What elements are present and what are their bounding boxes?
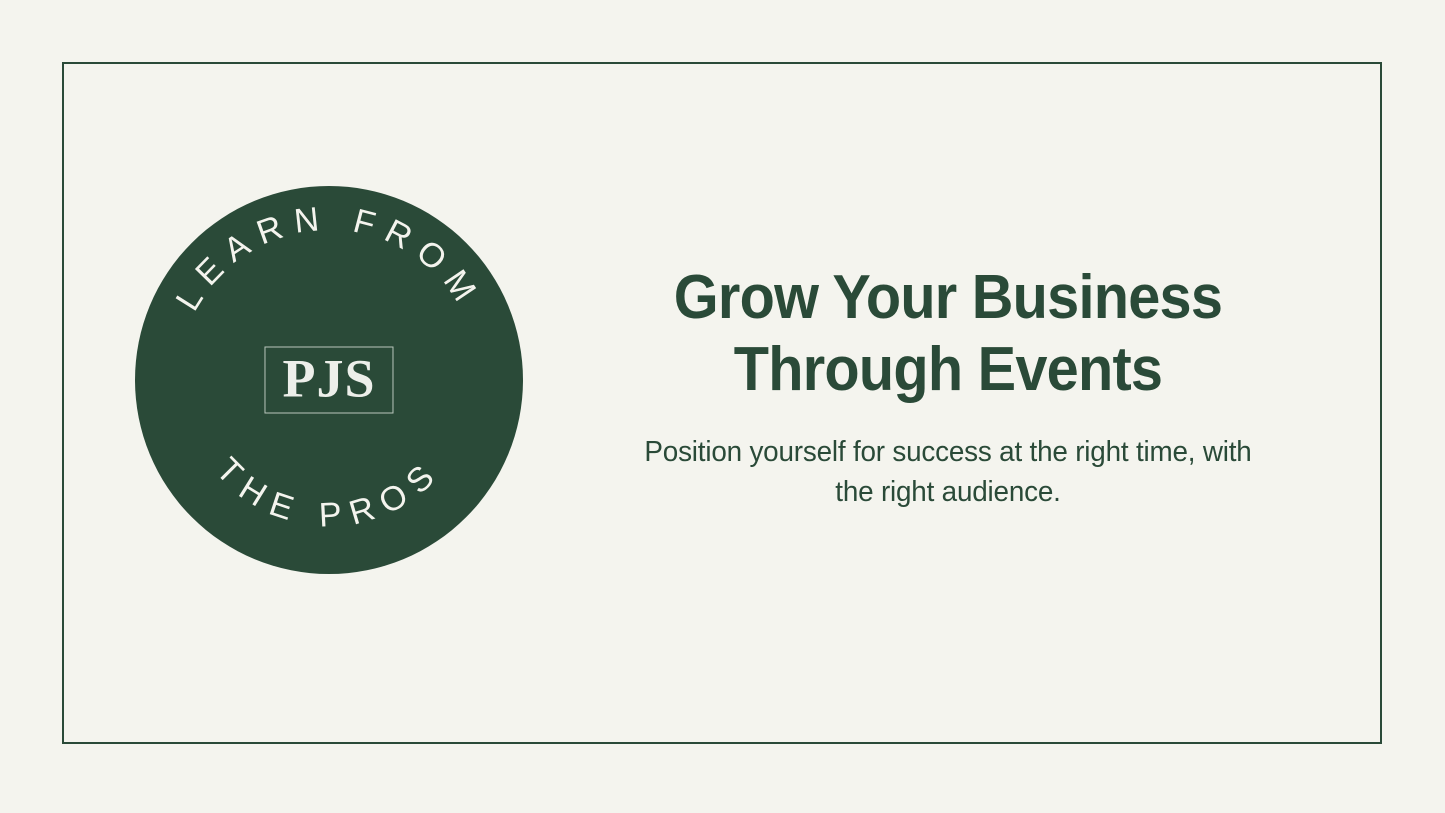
pjs-monogram-box: PJS (264, 347, 393, 414)
page-subtitle: Position yourself for success at the rig… (574, 432, 1323, 512)
headline-line-2: Through Events (585, 334, 1310, 406)
headline-line-1: Grow Your Business (585, 262, 1310, 334)
page-title: Grow Your Business Through Events (585, 262, 1310, 406)
subtitle-line-1: Position yourself for success at the rig… (574, 432, 1323, 472)
badge-arc-bottom-text: THE PROS (209, 450, 450, 534)
pjs-monogram-text: PJS (282, 352, 375, 406)
subtitle-line-2: the right audience. (574, 472, 1323, 512)
badge-arc-top-text: LEARN FROM (169, 199, 490, 317)
pjs-circular-badge: LEARN FROM THE PROS PJS (135, 186, 523, 574)
slide-text-block: Grow Your Business Through Events Positi… (558, 262, 1338, 512)
